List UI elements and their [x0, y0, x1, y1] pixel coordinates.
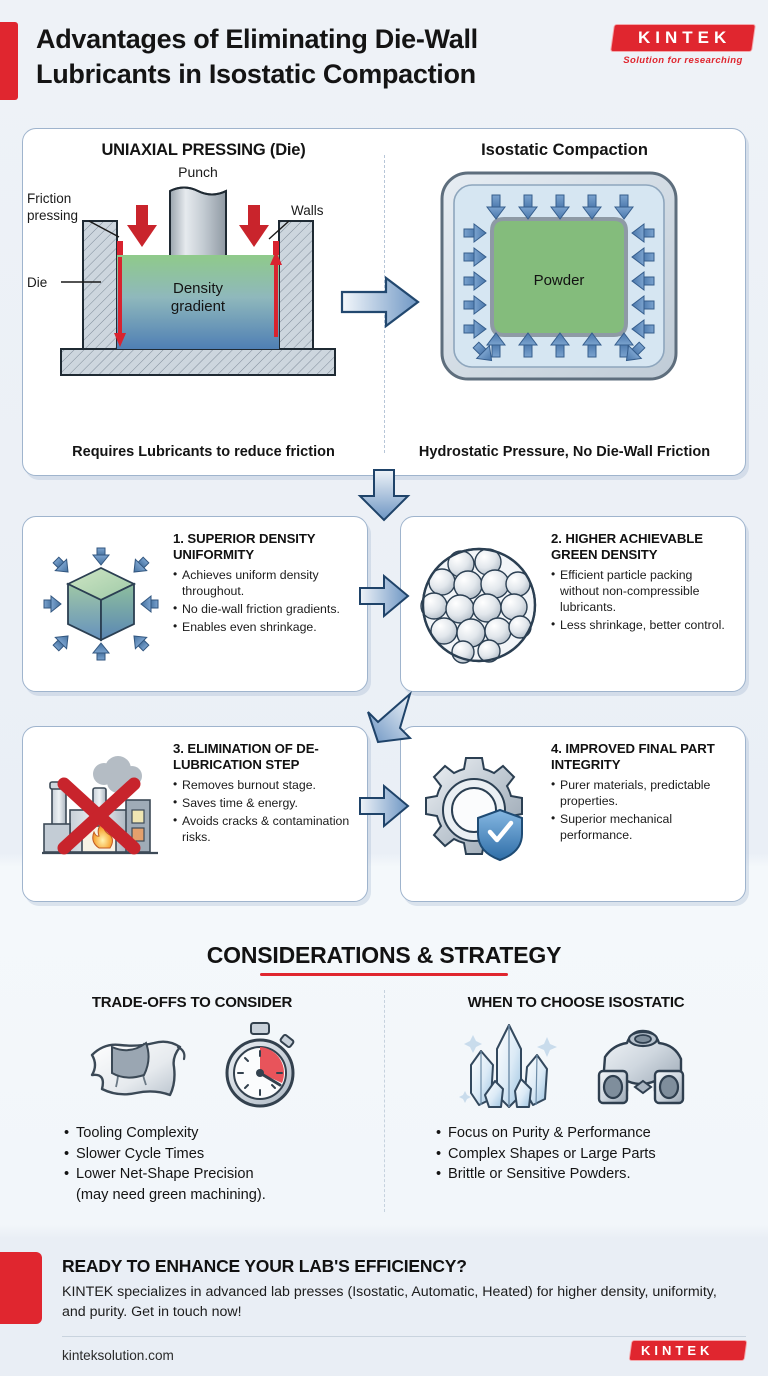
benefit-4-points: Purer materials, predictable properties.…: [551, 778, 733, 844]
benefit-card-1[interactable]: 1. SUPERIOR DENSITY UNIFORMITY Achieves …: [22, 516, 368, 692]
benefit-1-body: 1. SUPERIOR DENSITY UNIFORMITY Achieves …: [173, 527, 355, 683]
considerations-divider: [384, 990, 385, 1212]
isostatic-caption: Hydrostatic Pressure, No Die-Wall Fricti…: [384, 443, 745, 461]
footer-cta: READY TO ENHANCE YOUR LAB'S EFFICIENCY? …: [0, 1240, 768, 1376]
benefit-2-body: 2. HIGHER ACHIEVABLE GREEN DENSITY Effic…: [551, 527, 733, 683]
tradeoffs-list: Tooling Complexity Slower Cycle Times Lo…: [22, 1123, 362, 1206]
considerations-heading: CONSIDERATIONS & STRATEGY: [0, 926, 768, 969]
list-item: Complex Shapes or Large Parts: [436, 1144, 746, 1165]
label-walls: Walls: [291, 203, 324, 218]
gear-shield-icon: [413, 737, 545, 893]
label-friction: Friction: [27, 191, 71, 206]
isostatic-title: Isostatic Compaction: [390, 141, 739, 160]
list-item: Avoids cracks & contamination risks.: [173, 814, 355, 846]
list-item: Tooling Complexity: [64, 1123, 362, 1144]
benefit-1-title: 1. SUPERIOR DENSITY UNIFORMITY: [173, 531, 355, 563]
cta-body: KINTEK specializes in advanced lab press…: [62, 1282, 722, 1322]
when-to-choose-icons: [406, 1019, 746, 1111]
flexible-bag-icon: [82, 1025, 192, 1111]
tradeoffs-column: TRADE-OFFS TO CONSIDER: [0, 994, 384, 1206]
benefit-3-body: 3. ELIMINATION OF DE-LUBRICATION STEP Re…: [173, 737, 355, 893]
cta-headline: READY TO ENHANCE YOUR LAB'S EFFICIENCY?: [62, 1256, 467, 1277]
label-powder: Powder: [534, 272, 585, 289]
list-item: Superior mechanical performance.: [551, 812, 733, 844]
website-url[interactable]: kinteksolution.com: [62, 1348, 174, 1363]
benefit-4-body: 4. IMPROVED FINAL PART INTEGRITY Purer m…: [551, 737, 733, 893]
isostatic-column: Isostatic Compaction: [384, 129, 745, 475]
list-item: Saves time & energy.: [173, 796, 355, 812]
benefit-2-points: Efficient particle packing without non-c…: [551, 568, 733, 634]
compressed-cube-icon: [35, 527, 167, 683]
list-item: Brittle or Sensitive Powders.: [436, 1164, 746, 1185]
label-punch: Punch: [178, 164, 218, 180]
benefit-card-4[interactable]: 4. IMPROVED FINAL PART INTEGRITY Purer m…: [400, 726, 746, 902]
label-die: Die: [27, 275, 47, 290]
list-item: Enables even shrinkage.: [173, 620, 355, 636]
benefit-card-2[interactable]: 2. HIGHER ACHIEVABLE GREEN DENSITY Effic…: [400, 516, 746, 692]
uniaxial-caption: Requires Lubricants to reduce friction: [23, 443, 384, 461]
complex-part-icon: [587, 1023, 695, 1111]
label-density-gradient: Density: [173, 280, 224, 297]
page-title: Advantages of Eliminating Die-Wall Lubri…: [36, 22, 616, 91]
benefit-1-points: Achieves uniform density throughout. No …: [173, 568, 355, 636]
list-item: Efficient particle packing without non-c…: [551, 568, 733, 616]
header: Advantages of Eliminating Die-Wall Lubri…: [0, 0, 768, 118]
isostatic-figure: Powder: [384, 163, 745, 393]
list-item: Slower Cycle Times: [64, 1144, 362, 1165]
particle-packing-icon: [413, 527, 545, 683]
considerations-underline: [260, 973, 508, 976]
footer-logo-text: KINTEK: [641, 1343, 713, 1358]
footer-divider: [62, 1336, 746, 1337]
when-to-choose-column: WHEN TO CHOOSE ISOSTATIC: [384, 994, 768, 1206]
list-item: (may need green machining).: [64, 1185, 362, 1206]
flow-arrow-right-1-icon: [360, 574, 410, 618]
uniaxial-figure: Punch Density gradient: [23, 163, 384, 393]
brand-logo: KINTEK Solution for researching: [612, 24, 754, 66]
benefit-4-title: 4. IMPROVED FINAL PART INTEGRITY: [551, 741, 733, 773]
benefit-card-3[interactable]: 3. ELIMINATION OF DE-LUBRICATION STEP Re…: [22, 726, 368, 902]
logo-text: KINTEK: [638, 28, 731, 48]
furnace-crossed-out-icon: [35, 737, 167, 893]
when-to-choose-title: WHEN TO CHOOSE ISOSTATIC: [406, 994, 746, 1011]
list-item: Focus on Purity & Performance: [436, 1123, 746, 1144]
benefit-3-points: Removes burnout stage. Saves time & ener…: [173, 778, 355, 846]
list-item: Lower Net-Shape Precision: [64, 1164, 362, 1185]
svg-text:pressing: pressing: [27, 208, 78, 223]
tradeoffs-title: TRADE-OFFS TO CONSIDER: [22, 994, 362, 1011]
tradeoffs-icons: [22, 1019, 362, 1111]
list-item: Removes burnout stage.: [173, 778, 355, 794]
footer-logo: KINTEK: [630, 1340, 746, 1361]
list-item: Less shrinkage, better control.: [551, 618, 733, 634]
list-item: No die-wall friction gradients.: [173, 602, 355, 618]
list-item: Achieves uniform density throughout.: [173, 568, 355, 600]
flow-arrow-down-icon: [358, 470, 410, 522]
svg-text:gradient: gradient: [171, 298, 226, 315]
list-item: Purer materials, predictable properties.: [551, 778, 733, 810]
crystal-cluster-icon: [457, 1021, 561, 1111]
when-to-choose-list: Focus on Purity & Performance Complex Sh…: [406, 1123, 746, 1185]
transition-arrow-icon: [340, 276, 420, 328]
logo-mark: KINTEK: [610, 24, 756, 52]
considerations-section: CONSIDERATIONS & STRATEGY TRADE-OFFS TO …: [0, 926, 768, 1226]
uniaxial-title: UNIAXIAL PRESSING (Die): [29, 141, 378, 160]
logo-tagline: Solution for researching: [612, 55, 754, 66]
footer-logo-mark: KINTEK: [629, 1340, 748, 1361]
infographic-page: Advantages of Eliminating Die-Wall Lubri…: [0, 0, 768, 1376]
footer-accent-bar: [0, 1252, 42, 1324]
uniaxial-column: UNIAXIAL PRESSING (Die): [23, 129, 384, 475]
header-accent-bar: [0, 22, 18, 100]
benefit-2-title: 2. HIGHER ACHIEVABLE GREEN DENSITY: [551, 531, 733, 563]
benefit-3-title: 3. ELIMINATION OF DE-LUBRICATION STEP: [173, 741, 355, 773]
stopwatch-icon: [218, 1021, 302, 1111]
flow-arrow-right-2-icon: [360, 784, 410, 828]
flow-arrow-down-left-icon: [352, 690, 414, 746]
